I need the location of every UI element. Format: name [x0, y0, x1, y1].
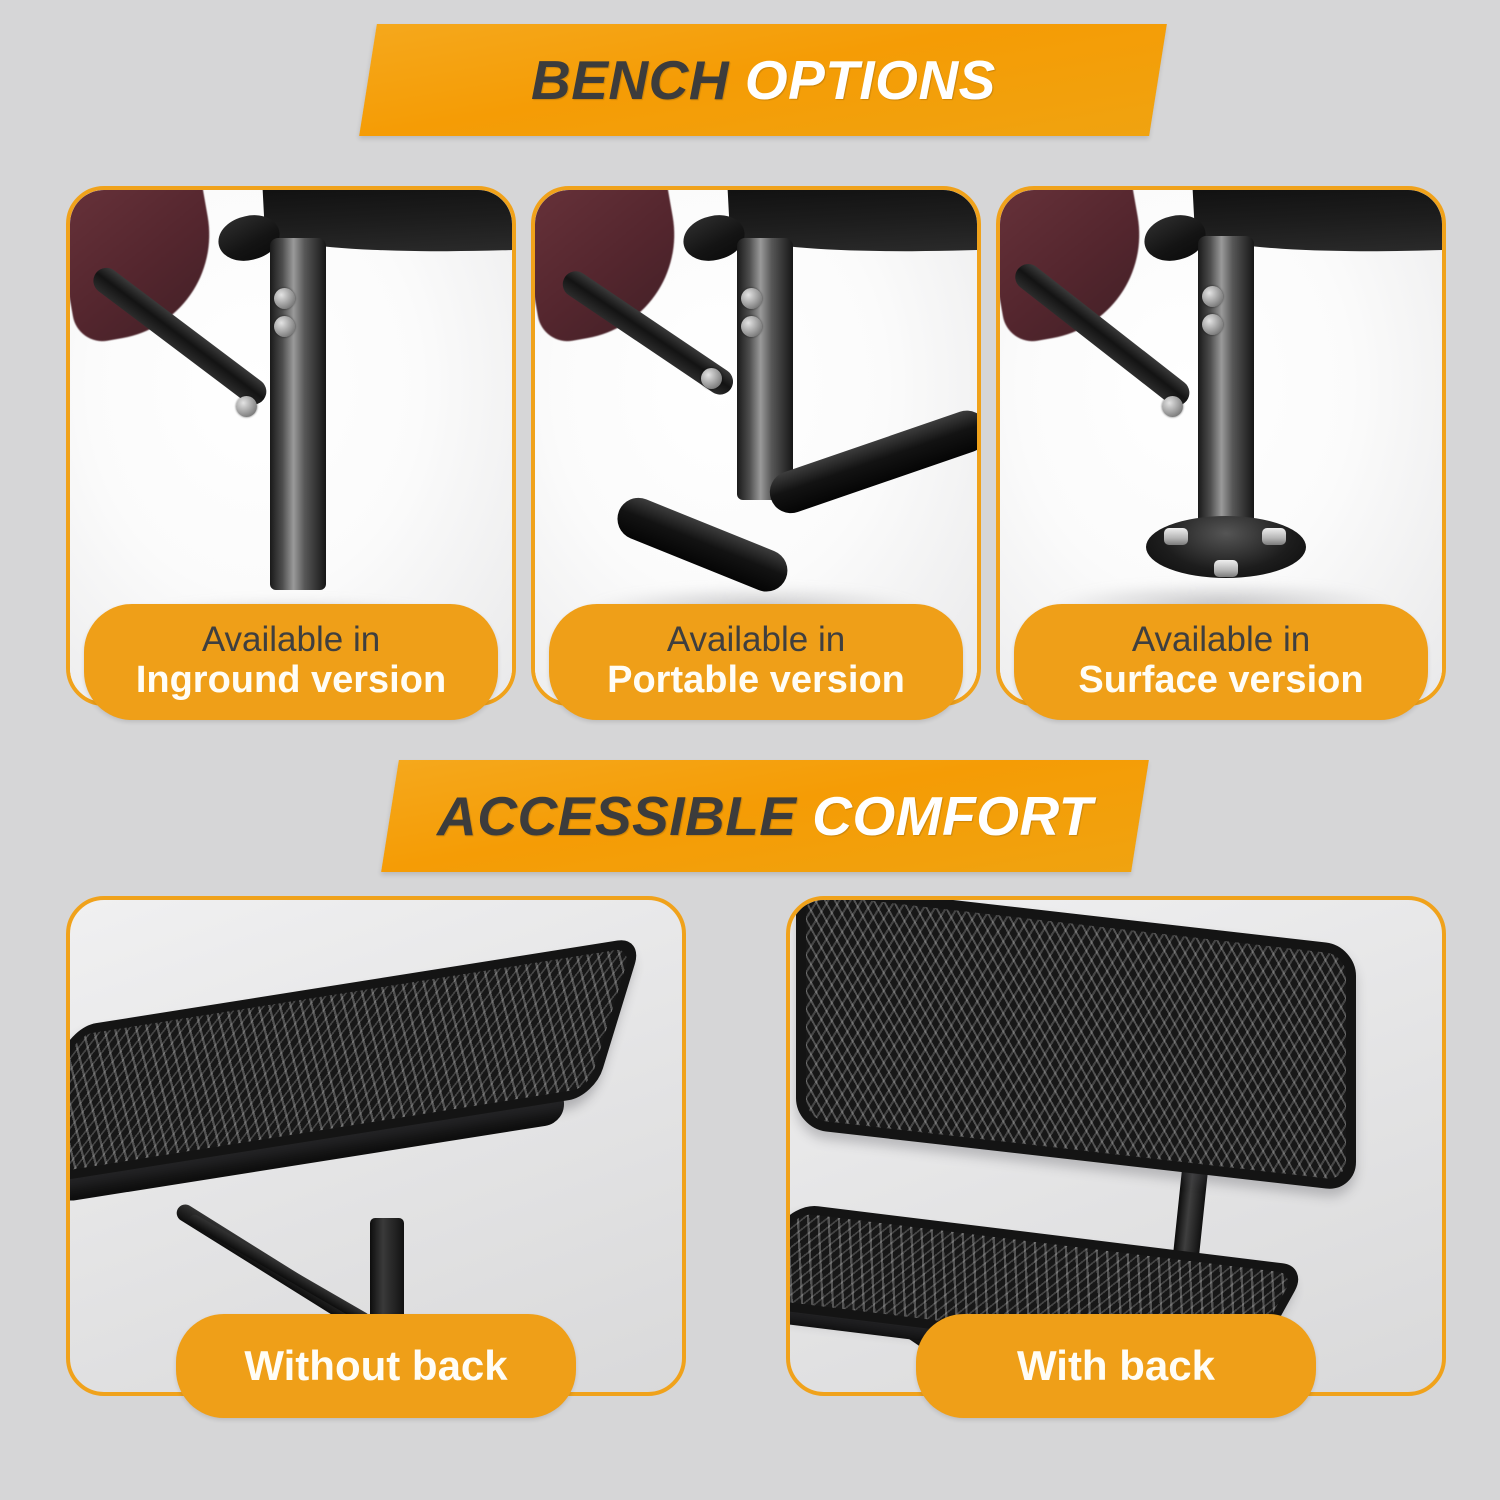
bolt-lower	[741, 316, 762, 337]
bench-backrest-mesh-panel	[796, 900, 1356, 1192]
bolt-upper	[741, 288, 762, 309]
caption-line-1: Available in	[1132, 622, 1310, 659]
accessible-comfort-card-row: Without back With back	[66, 896, 1446, 1396]
caption-text: Without back	[244, 1342, 507, 1390]
bench-options-card-row: Available in Inground version Available …	[66, 186, 1446, 706]
anchor-bolt-right	[1262, 528, 1286, 545]
bolt-brace-pivot	[701, 368, 722, 389]
caption-line-1: Available in	[202, 622, 380, 659]
section-banner-accessible-comfort: ACCESSIBLE COMFORT	[381, 760, 1149, 872]
banner-text: ACCESSIBLE COMFORT	[437, 784, 1093, 848]
section-banner-bench-options: BENCH OPTIONS	[359, 24, 1167, 136]
option-card-surface[interactable]: Available in Surface version	[996, 186, 1446, 706]
banner-word-light: OPTIONS	[744, 49, 995, 111]
option-card-portable[interactable]: Available in Portable version	[531, 186, 981, 706]
caption-line-2: Surface version	[1078, 659, 1363, 703]
caption-line-2: Inground version	[136, 659, 446, 703]
caption-pill-portable: Available in Portable version	[549, 604, 963, 720]
cross-foot-tube-left	[611, 492, 794, 598]
banner-word-light: COMFORT	[812, 785, 1093, 847]
bolt-brace-pivot	[1162, 396, 1183, 417]
cross-foot-tube-right	[764, 405, 977, 519]
bench-leg-brace-inner	[187, 1213, 371, 1326]
banner-word-dark: ACCESSIBLE	[437, 785, 797, 847]
option-card-inground[interactable]: Available in Inground version	[66, 186, 516, 706]
anchor-bolt-left	[1164, 528, 1188, 545]
anchor-bolt-front	[1214, 560, 1238, 577]
comfort-card-with-back[interactable]: With back	[786, 896, 1446, 1396]
bolt-lower	[1202, 314, 1223, 335]
comfort-card-without-back[interactable]: Without back	[66, 896, 686, 1396]
caption-line-1: Available in	[667, 622, 845, 659]
caption-pill-surface: Available in Surface version	[1014, 604, 1428, 720]
banner-text: BENCH OPTIONS	[531, 48, 996, 112]
caption-pill-with-back: With back	[916, 1314, 1316, 1418]
leg-post-surface	[1198, 236, 1254, 536]
bolt-brace-pivot	[236, 396, 257, 417]
caption-text: With back	[1017, 1342, 1215, 1390]
bolt-upper	[1202, 286, 1223, 307]
caption-pill-without-back: Without back	[176, 1314, 576, 1418]
bolt-lower	[274, 316, 295, 337]
leg-post-portable	[737, 238, 793, 500]
caption-pill-inground: Available in Inground version	[84, 604, 498, 720]
caption-line-2: Portable version	[607, 659, 905, 703]
banner-word-dark: BENCH	[531, 49, 729, 111]
bolt-upper	[274, 288, 295, 309]
